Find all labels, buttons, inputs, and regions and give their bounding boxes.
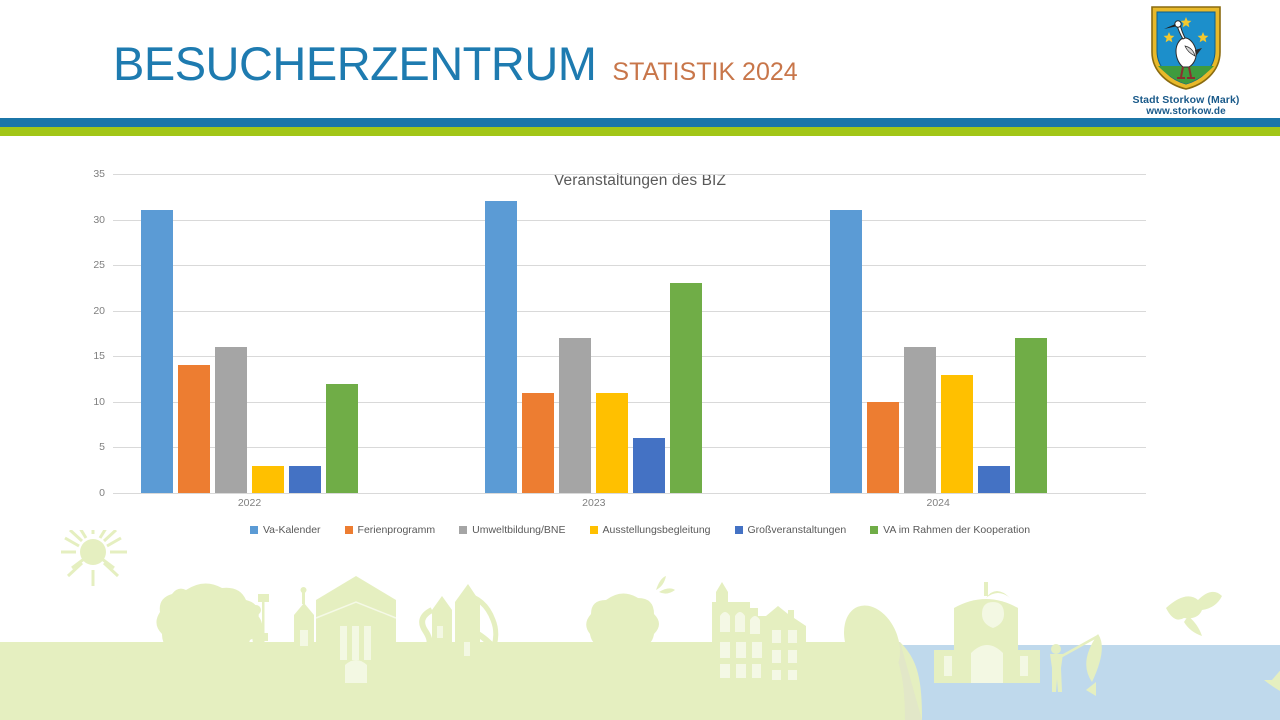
divider-bar-green — [0, 127, 1280, 136]
gridline: 0 — [113, 493, 1146, 494]
chart-x-axis: 202220232024 — [113, 497, 1146, 517]
gridline: 10 — [113, 402, 1146, 403]
logo-city-name: Stadt Storkow (Mark) — [1106, 94, 1266, 106]
gridline: 25 — [113, 265, 1146, 266]
x-axis-tick-label: 2022 — [238, 497, 261, 509]
chart-bar — [289, 466, 321, 493]
chart-bar — [326, 384, 358, 493]
x-axis-tick-label: 2023 — [582, 497, 605, 509]
logo-website: www.storkow.de — [1106, 106, 1266, 117]
chart-bar — [633, 438, 665, 493]
chart-bar — [596, 393, 628, 493]
chart-bar — [670, 283, 702, 493]
city-logo[interactable]: Stadt Storkow (Mark) www.storkow.de — [1106, 4, 1266, 117]
gridline: 15 — [113, 356, 1146, 357]
chart-bar — [830, 210, 862, 493]
chart-bar — [941, 375, 973, 493]
footer-illustration — [0, 530, 1280, 720]
chart-bar — [522, 393, 554, 493]
y-axis-tick-label: 20 — [93, 305, 105, 317]
chart-bar — [215, 347, 247, 493]
y-axis-tick-label: 0 — [99, 487, 105, 499]
gridline: 30 — [113, 220, 1146, 221]
gridline: 35 — [113, 174, 1146, 175]
chart-bar — [904, 347, 936, 493]
slide-header: BESUCHERZENTRUM STATISTIK 2024 — [0, 0, 1280, 118]
y-axis-tick-label: 15 — [93, 350, 105, 362]
y-axis-tick-label: 10 — [93, 396, 105, 408]
title-block: BESUCHERZENTRUM STATISTIK 2024 — [113, 40, 798, 87]
page-title: BESUCHERZENTRUM — [113, 40, 596, 87]
gridline: 5 — [113, 447, 1146, 448]
y-axis-tick-label: 5 — [99, 441, 105, 453]
y-axis-tick-label: 35 — [93, 168, 105, 180]
chart: Veranstaltungen des BIZ 05101520253035 2… — [0, 150, 1280, 550]
chart-plot-area: 05101520253035 — [113, 174, 1146, 493]
chart-bar — [141, 210, 173, 493]
chart-bar — [978, 466, 1010, 493]
slide: BESUCHERZENTRUM STATISTIK 2024 — [0, 0, 1280, 720]
chart-bar — [867, 402, 899, 493]
stork-coat-of-arms-icon — [1149, 4, 1223, 92]
page-subtitle: STATISTIK 2024 — [612, 60, 797, 85]
chart-bar — [485, 201, 517, 493]
gridline: 20 — [113, 311, 1146, 312]
divider-bar-blue — [0, 118, 1280, 127]
town-silhouette-icon — [0, 530, 1280, 720]
chart-bar — [178, 365, 210, 493]
chart-bar — [1015, 338, 1047, 493]
chart-bar — [252, 466, 284, 493]
y-axis-tick-label: 25 — [93, 259, 105, 271]
chart-bar — [559, 338, 591, 493]
x-axis-tick-label: 2024 — [926, 497, 949, 509]
y-axis-tick-label: 30 — [93, 214, 105, 226]
